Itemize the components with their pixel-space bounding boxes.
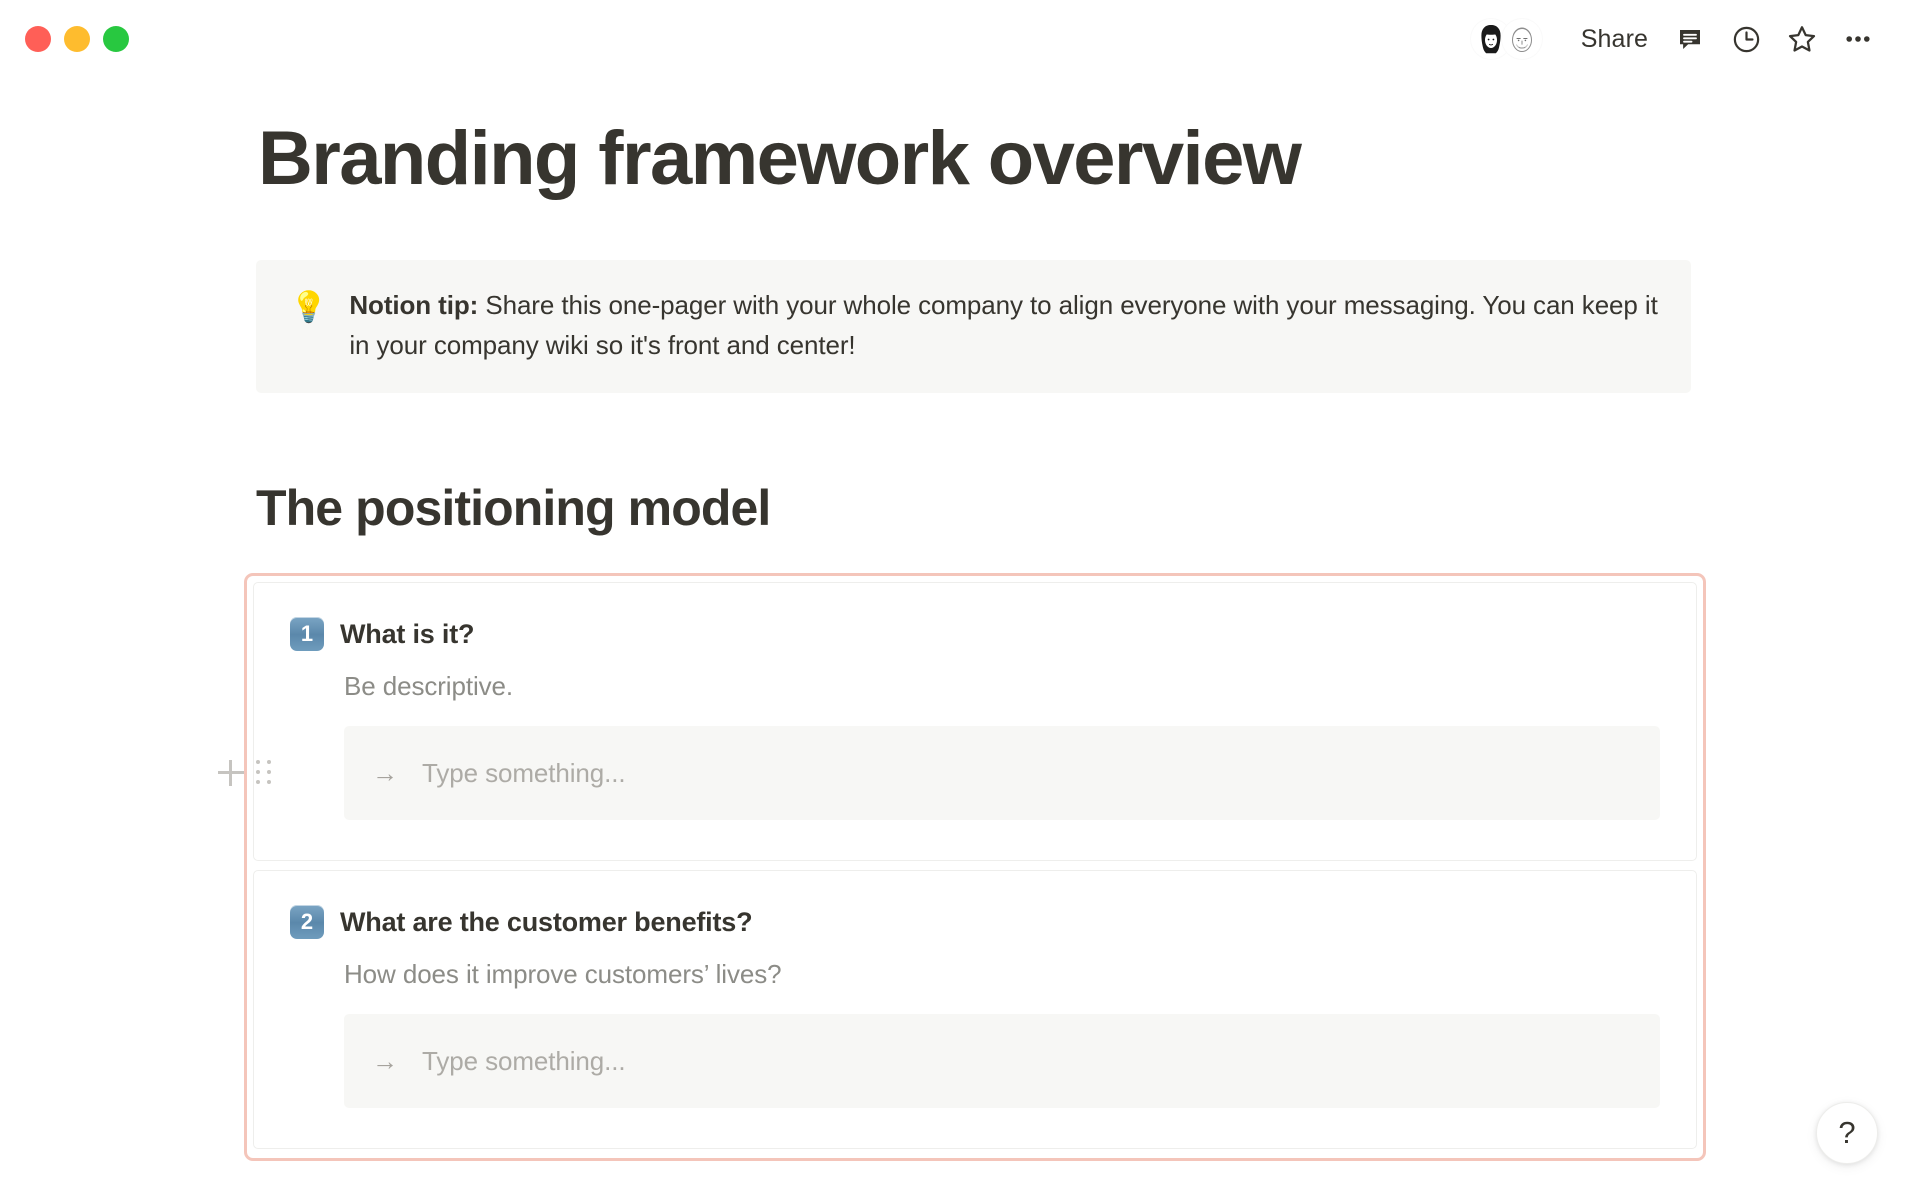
collaborator-avatars[interactable] [1470,18,1543,60]
answer-input-wrapper: → Type something... [292,1014,1660,1108]
answer-input[interactable]: → Type something... [344,726,1660,820]
callout-text: Notion tip: Share this one-pager with yo… [349,286,1659,365]
help-button[interactable]: ? [1816,1102,1878,1164]
titlebar: Share [0,0,1920,78]
question-subtitle: Be descriptive. [344,671,1660,702]
history-icon[interactable] [1720,13,1772,65]
question-header: 2 What are the customer benefits? [290,905,1660,939]
keycap-number-icon: 2 [290,905,324,939]
titlebar-actions: Share [1470,0,1884,78]
window-controls [25,26,129,52]
lightbulb-icon: 💡 [290,286,327,330]
callout-body: Share this one-pager with your whole com… [349,290,1657,360]
synced-block-container: 1 What is it? Be descriptive. → Type som… [244,573,1706,1161]
comment-icon[interactable] [1664,13,1716,65]
callout-block[interactable]: 💡 Notion tip: Share this one-pager with … [256,260,1691,393]
document-body: Branding framework overview 💡 Notion tip… [0,78,1920,1161]
star-icon[interactable] [1776,13,1828,65]
add-block-icon[interactable] [218,760,244,786]
question-header: 1 What is it? [290,617,1660,651]
app-window: Share [0,0,1920,1200]
answer-placeholder: Type something... [422,1046,626,1077]
arrow-right-icon: → [372,1048,398,1074]
keycap-number-icon: 1 [290,617,324,651]
arrow-right-icon: → [372,760,398,786]
question-subtitle: How does it improve customers’ lives? [344,959,1660,990]
avatar[interactable] [1501,18,1543,60]
callout-lead: Notion tip: [349,290,478,320]
answer-input-wrapper: → Type something... [292,726,1660,820]
more-icon[interactable] [1832,13,1884,65]
question-title[interactable]: What is it? [340,619,474,650]
question-card: 1 What is it? Be descriptive. → Type som… [253,582,1697,861]
minimize-window-button[interactable] [64,26,90,52]
question-title[interactable]: What are the customer benefits? [340,907,752,938]
page-title[interactable]: Branding framework overview [258,118,1920,200]
maximize-window-button[interactable] [103,26,129,52]
drag-handle-icon[interactable] [256,760,272,786]
question-card: 2 What are the customer benefits? How do… [253,870,1697,1149]
share-button[interactable]: Share [1569,19,1660,60]
section-heading[interactable]: The positioning model [256,479,1920,537]
block-handles [218,760,272,786]
close-window-button[interactable] [25,26,51,52]
answer-input[interactable]: → Type something... [344,1014,1660,1108]
answer-placeholder: Type something... [422,758,626,789]
